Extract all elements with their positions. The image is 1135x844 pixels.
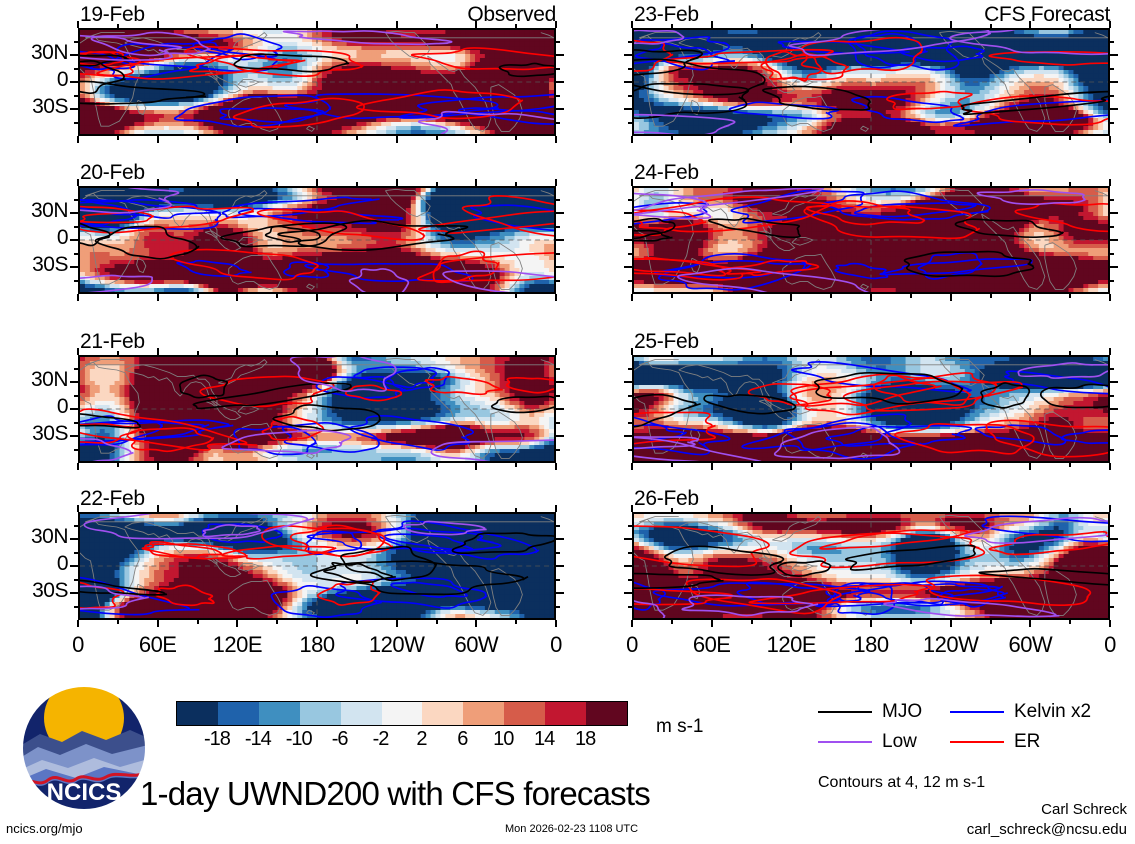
x-axis-tick-label: 180 [275,632,359,658]
y-axis-tick-label: 30S [2,95,68,119]
ncics-logo[interactable]: NCICS [20,684,148,812]
column-header-observed: Observed [78,3,556,27]
x-axis-tick-label: 0 [590,632,674,658]
y-axis-tick-label: 30S [2,579,68,603]
colorbar-swatch [382,702,423,725]
x-axis-tick-label: 180 [829,632,913,658]
x-axis-tick-label: 120W [909,632,993,658]
figure-title: 1-day UWND200 with CFS forecasts [140,775,650,813]
x-axis-tick-label: 0 [514,632,598,658]
site-url: ncics.org/mjo [6,821,83,836]
panel-date-label: 20-Feb [80,161,145,185]
legend-label: MJO [882,701,922,723]
colorbar-swatch [341,702,382,725]
render-timestamp: Mon 2026-02-23 1108 UTC [505,823,638,835]
y-axis-tick-label: 0 [2,552,68,576]
map-panel [632,512,1110,620]
y-axis-tick-label: 0 [2,226,68,250]
x-axis-tick-label: 60W [988,632,1072,658]
panel-date-label: 21-Feb [80,330,145,354]
map-panel [78,512,556,620]
x-axis-tick-label: 60E [670,632,754,658]
map-panel [78,28,556,136]
colorbar-swatch [504,702,545,725]
author-email: carl_schreck@ncsu.edu [827,821,1127,838]
map-panel [78,355,556,463]
y-axis-tick-label: 30N [2,525,68,549]
x-axis-tick-label: 60W [434,632,518,658]
legend-line-swatch [818,741,872,743]
author-name: Carl Schreck [827,801,1127,818]
colorbar-swatch [545,702,586,725]
y-axis-tick-label: 30S [2,253,68,277]
colorbar-swatch [218,702,259,725]
legend-label: Low [882,731,917,753]
y-axis-tick-label: 30N [2,41,68,65]
legend-label: Kelvin x2 [1014,701,1091,723]
colorbar-swatch [586,702,627,725]
legend-line-swatch [818,711,872,713]
y-axis-tick-label: 30S [2,422,68,446]
colorbar-unit-label: m s-1 [656,716,704,738]
x-axis-tick-label: 0 [36,632,120,658]
y-axis-tick-label: 0 [2,395,68,419]
colorbar-tick-label: 18 [559,728,611,751]
y-axis-tick-label: 30N [2,199,68,223]
y-axis-tick-label: 0 [2,68,68,92]
panel-date-label: 25-Feb [634,330,699,354]
panel-date-label: 22-Feb [80,487,145,511]
contour-note: Contours at 4, 12 m s-1 [818,774,985,792]
logo-wordmark: NCICS [47,779,122,806]
y-axis-tick-label: 30N [2,368,68,392]
x-axis-tick-label: 120E [749,632,833,658]
x-axis-tick-label: 0 [1068,632,1135,658]
x-axis-tick-label: 60E [116,632,200,658]
map-panel [632,355,1110,463]
panel-date-label: 26-Feb [634,487,699,511]
map-panel [632,28,1110,136]
x-axis-tick-label: 120W [355,632,439,658]
column-header-forecast: CFS Forecast [632,3,1110,27]
map-panel [632,186,1110,294]
panel-date-label: 24-Feb [634,161,699,185]
colorbar-swatch [463,702,504,725]
legend-label: ER [1014,731,1040,753]
colorbar-swatch [300,702,341,725]
legend-line-swatch [950,711,1004,713]
colorbar-swatch [177,702,218,725]
colorbar-swatch [259,702,300,725]
map-panel [78,186,556,294]
colorbar-swatch [422,702,463,725]
colorbar [176,701,628,726]
x-axis-tick-label: 120E [195,632,279,658]
legend-line-swatch [950,741,1004,743]
